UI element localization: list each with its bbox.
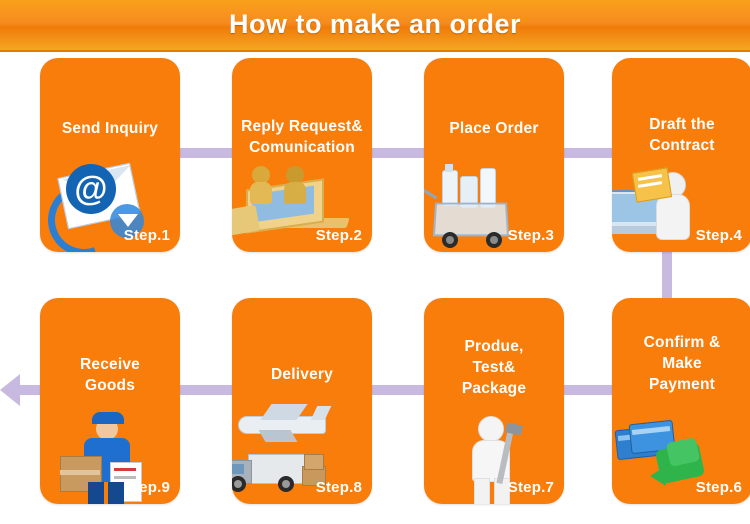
step-card-label: Reply Request& Comunication	[232, 116, 372, 158]
step-card-send-inquiry[interactable]: Send Inquiry @ Step.1	[40, 58, 180, 252]
step-card-label: Produe, Test& Package	[424, 336, 564, 399]
step-card-label: Send Inquiry	[40, 118, 180, 139]
step-card-draft-contract[interactable]: Draft the Contract Step.4	[612, 58, 750, 252]
header-banner: How to make an order	[0, 0, 750, 52]
step-card-number: Step.9	[124, 479, 170, 496]
step-card-label: Draft the Contract	[612, 114, 750, 156]
diagram-page: How to make an order Send Inquiry @ Step…	[0, 0, 750, 524]
step-card-number: Step.7	[508, 479, 554, 496]
step-card-delivery[interactable]: Delivery Step.8	[232, 298, 372, 504]
step-card-number: Step.1	[124, 227, 170, 244]
step-card-number: Step.4	[696, 227, 742, 244]
step-card-number: Step.2	[316, 227, 362, 244]
step-card-reply-request[interactable]: Reply Request& Comunication Step.2	[232, 58, 372, 252]
step-card-produce-test-package[interactable]: Produe, Test& Package Step.7	[424, 298, 564, 504]
step-card-number: Step.8	[316, 479, 362, 496]
step-card-number: Step.3	[508, 227, 554, 244]
step-card-label: Place Order	[424, 118, 564, 139]
left-arrow-icon	[0, 374, 20, 406]
step-card-number: Step.6	[696, 479, 742, 496]
step-card-confirm-payment[interactable]: Confirm & Make Payment Step.6	[612, 298, 750, 504]
page-title: How to make an order	[0, 0, 750, 48]
step-card-label: Receive Goods	[40, 354, 180, 396]
step-card-label: Confirm & Make Payment	[612, 332, 750, 395]
step-card-label: Delivery	[232, 364, 372, 385]
step-card-place-order[interactable]: Place Order Step.3	[424, 58, 564, 252]
step-card-receive-goods[interactable]: Receive Goods Step.9	[40, 298, 180, 504]
